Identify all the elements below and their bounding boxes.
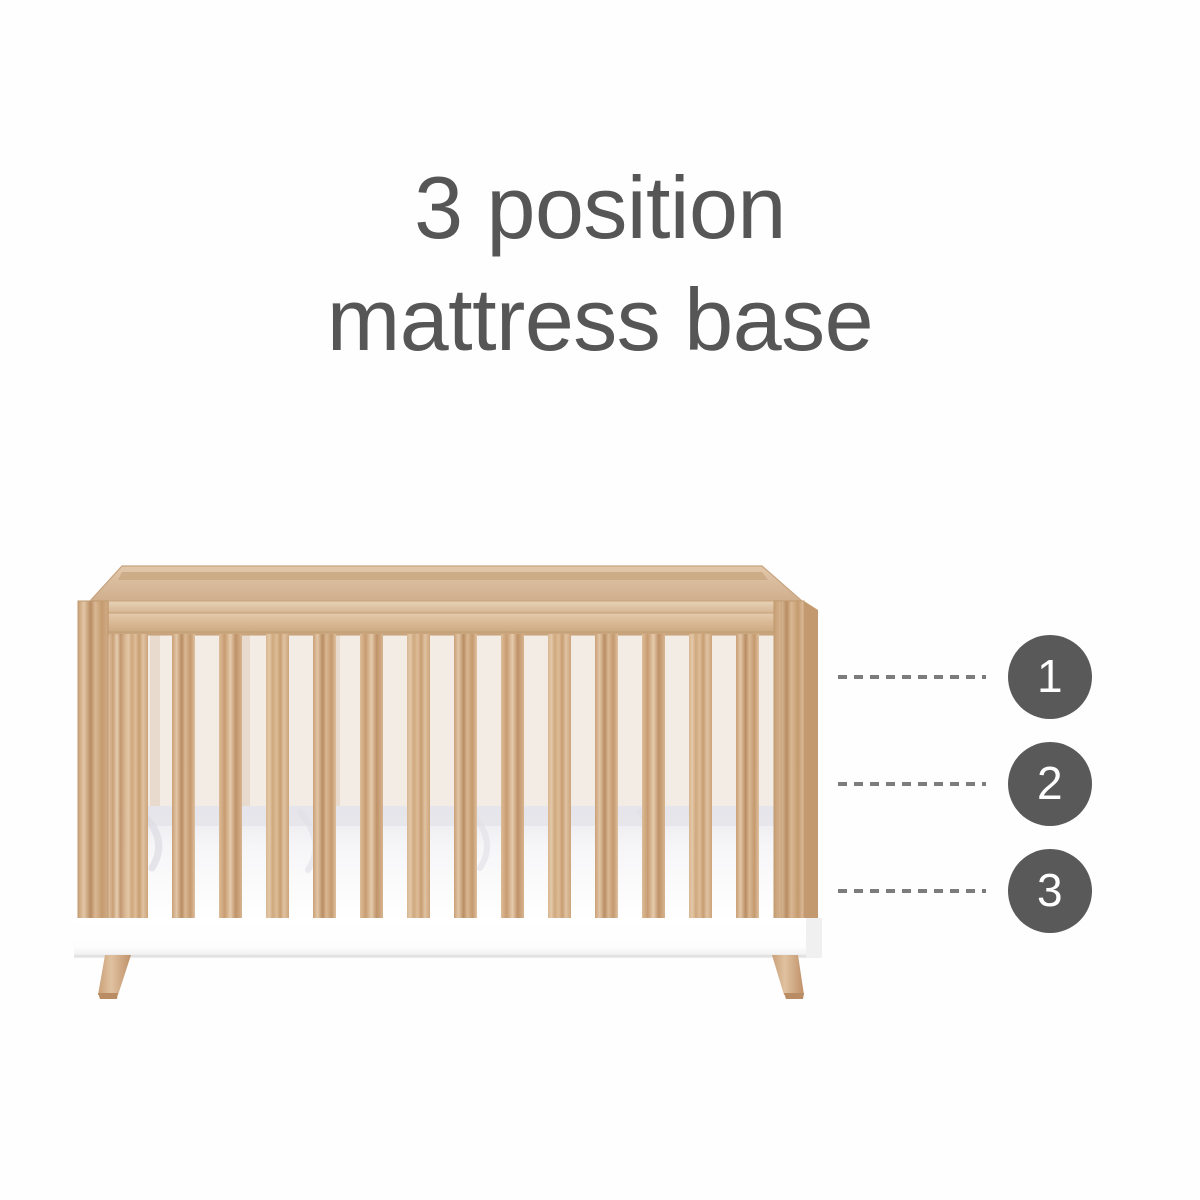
badge-number-1: 1 — [1037, 653, 1063, 699]
badge-position-3: 3 — [1008, 849, 1092, 933]
crib-illustration — [0, 0, 1200, 1200]
badge-number-3: 3 — [1037, 867, 1063, 913]
leader-line-2 — [838, 782, 986, 786]
crib-mattress — [114, 806, 790, 922]
leader-line-3 — [838, 889, 986, 893]
leader-line-1 — [838, 675, 986, 679]
badge-position-1: 1 — [1008, 635, 1092, 719]
badge-number-2: 2 — [1037, 760, 1063, 806]
crib-legs — [98, 955, 804, 999]
callout-position-2: 2 — [838, 741, 1092, 827]
crib-base-panel — [74, 918, 822, 958]
infographic-canvas: 3 position mattress base — [0, 0, 1200, 1200]
crib-back-rail — [90, 566, 802, 601]
callout-position-1: 1 — [838, 634, 1092, 720]
badge-position-2: 2 — [1008, 742, 1092, 826]
callout-position-3: 3 — [838, 848, 1092, 934]
crib-front-top-rail — [86, 601, 806, 635]
